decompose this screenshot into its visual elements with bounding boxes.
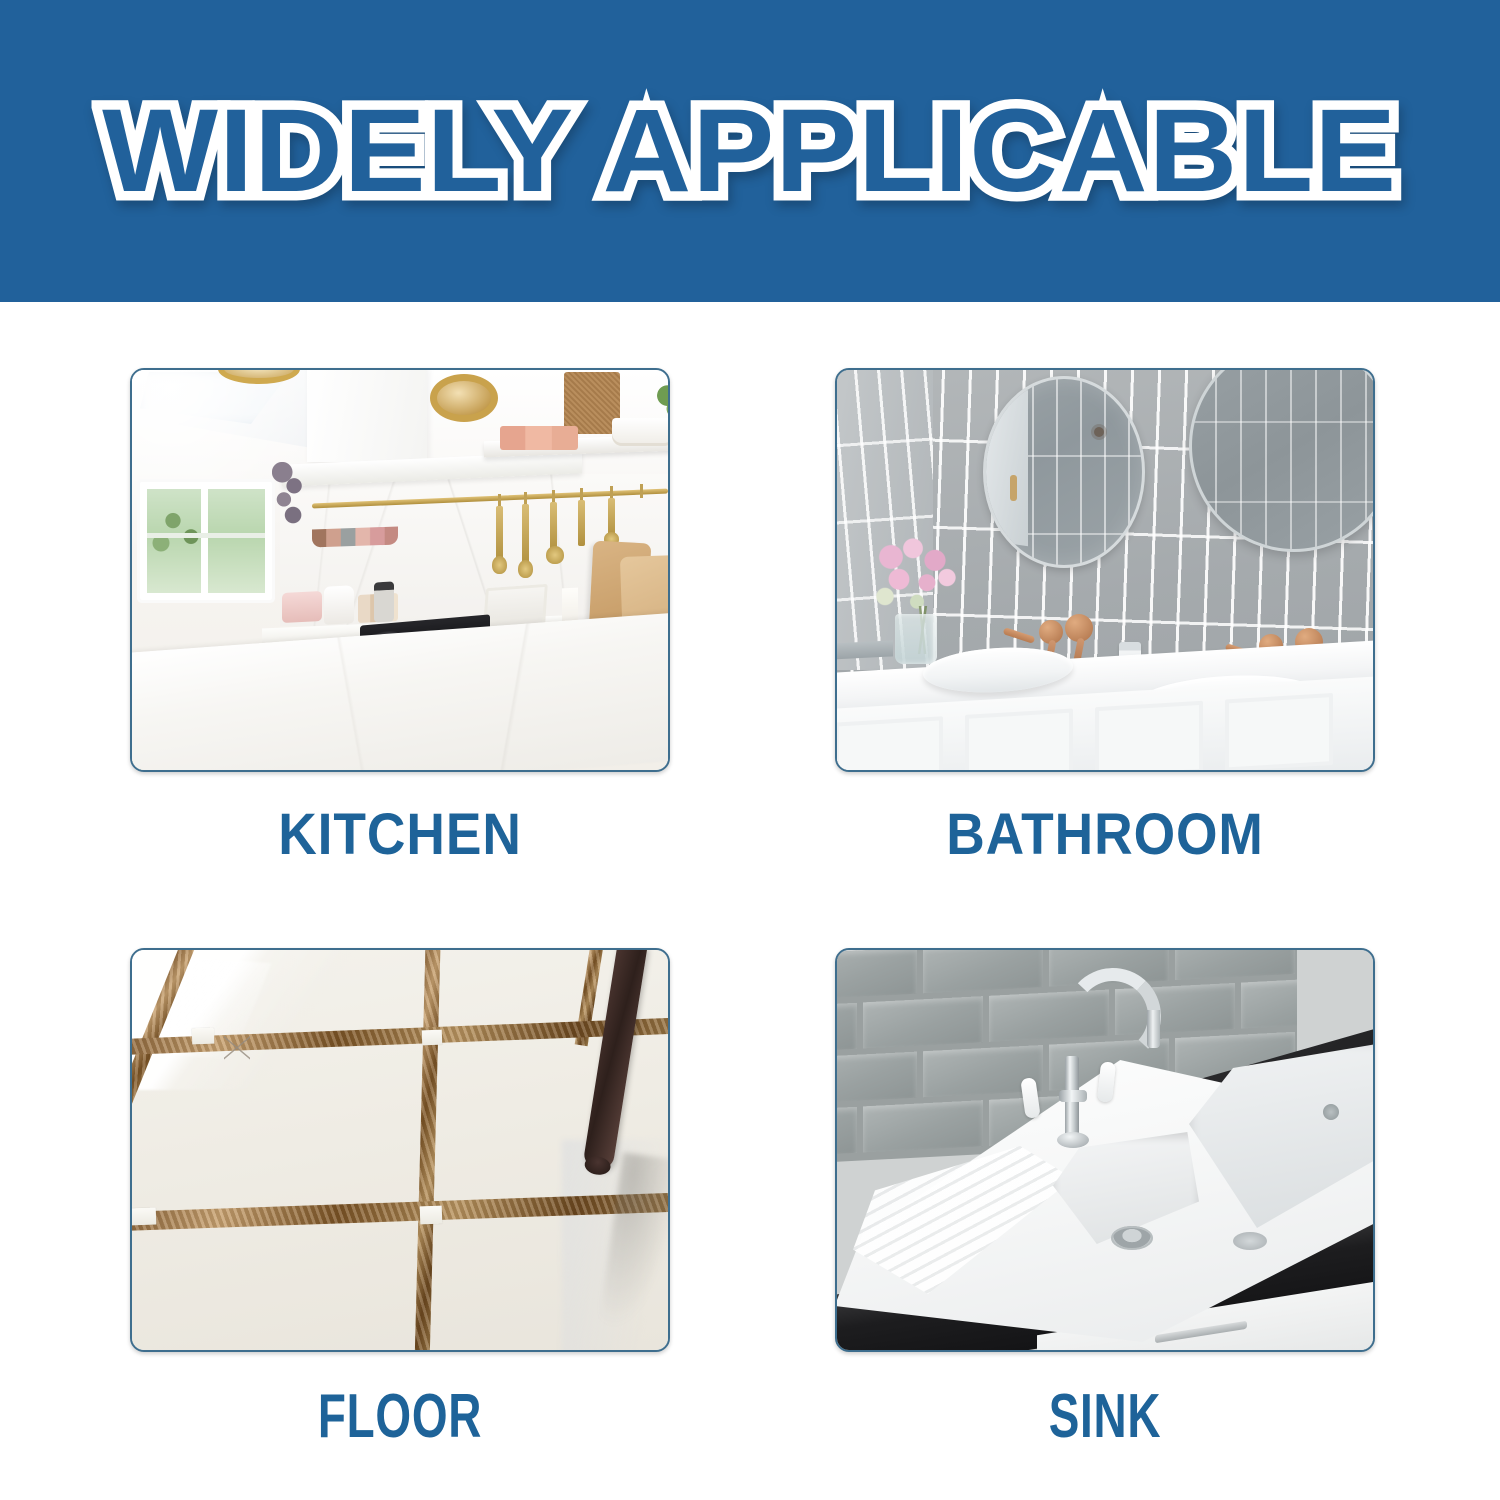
header-banner: WIDELY APPLICABLE (0, 0, 1500, 302)
sink-photo (837, 950, 1373, 1350)
sink-waste-icon (1111, 1226, 1153, 1250)
use-case-card-bathroom[interactable]: BATHROOM (835, 368, 1375, 864)
page-title: WIDELY APPLICABLE (102, 92, 1397, 210)
overflow-hole-icon (1323, 1104, 1339, 1120)
card-caption-kitchen: KITCHEN (152, 806, 649, 864)
use-case-card-floor[interactable]: FLOOR (130, 948, 670, 1448)
use-case-grid: KITCHEN (0, 302, 1500, 1500)
kitchen-photo-frame (130, 368, 670, 772)
round-mirror-right-icon (1189, 370, 1373, 552)
bathroom-photo-frame (835, 368, 1375, 772)
floor-photo-frame (130, 948, 670, 1352)
sink-photo-frame (835, 948, 1375, 1352)
infographic-page: WIDELY APPLICABLE (0, 0, 1500, 1500)
use-case-card-sink[interactable]: SINK (835, 948, 1375, 1448)
floor-photo (132, 950, 668, 1350)
kitchen-photo (132, 370, 668, 770)
use-case-card-kitchen[interactable]: KITCHEN (130, 368, 670, 864)
bathroom-photo (837, 370, 1373, 770)
card-caption-sink: SINK (905, 1386, 1305, 1448)
kitchen-window-icon (140, 482, 272, 600)
card-caption-bathroom: BATHROOM (857, 806, 1354, 864)
round-mirror-left-icon (983, 376, 1145, 568)
card-caption-floor: FLOOR (200, 1386, 600, 1448)
